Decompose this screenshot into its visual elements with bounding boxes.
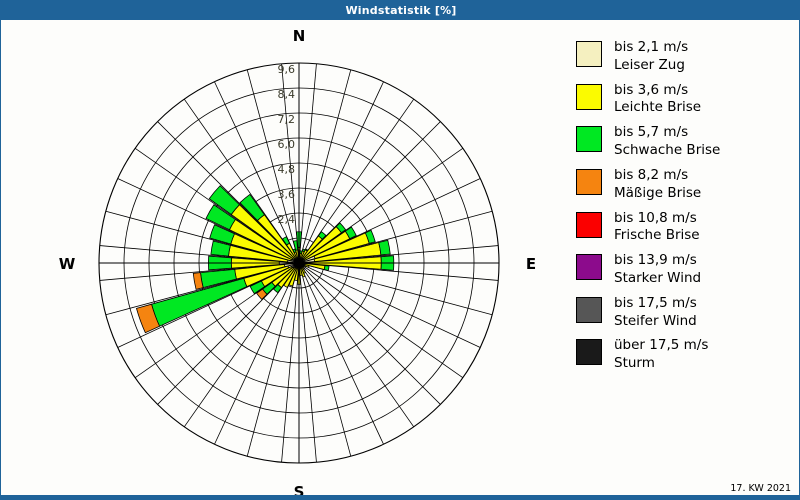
compass-label-w: W <box>59 255 76 273</box>
petal-layer <box>136 186 393 333</box>
legend-name-label: Steifer Wind <box>614 313 697 331</box>
legend-color-swatch <box>576 297 602 323</box>
legend-color-swatch <box>576 126 602 152</box>
legend-name-label: Mäßige Brise <box>614 185 701 203</box>
petal-segment <box>324 266 329 271</box>
legend-name-label: Leiser Zug <box>614 57 688 75</box>
legend-label-group: bis 13,9 m/sStarker Wind <box>614 252 701 288</box>
legend-speed-label: bis 5,7 m/s <box>614 124 720 142</box>
legend-color-swatch <box>576 84 602 110</box>
legend-item: über 17,5 m/sSturm <box>576 337 798 373</box>
window-title-bar: Windstatistik [%] <box>1 1 800 20</box>
legend-speed-label: bis 10,8 m/s <box>614 210 700 228</box>
legend-label-group: bis 3,6 m/sLeichte Brise <box>614 82 701 118</box>
footer-week-label: 17. KW 2021 <box>730 483 791 494</box>
legend-item: bis 2,1 m/sLeiser Zug <box>576 39 798 75</box>
legend-label-group: bis 8,2 m/sMäßige Brise <box>614 167 701 203</box>
radial-tick-label: 7,2 <box>278 113 296 126</box>
legend-item: bis 17,5 m/sSteifer Wind <box>576 295 798 331</box>
legend-color-swatch <box>576 41 602 67</box>
legend: bis 2,1 m/sLeiser Zugbis 3,6 m/sLeichte … <box>576 39 798 380</box>
window-title: Windstatistik [%] <box>345 4 456 17</box>
legend-speed-label: bis 2,1 m/s <box>614 39 688 57</box>
legend-label-group: bis 17,5 m/sSteifer Wind <box>614 295 697 331</box>
legend-color-swatch <box>576 339 602 365</box>
grid-spoke <box>299 263 414 427</box>
legend-color-swatch <box>576 169 602 195</box>
window-bottom-bar <box>1 495 800 499</box>
wind-rose-svg: 2,43,64,86,07,28,49,6NESW <box>1 20 566 499</box>
legend-speed-label: bis 17,5 m/s <box>614 295 697 313</box>
radial-tick-label: 6,0 <box>278 138 296 151</box>
legend-item: bis 8,2 m/sMäßige Brise <box>576 167 798 203</box>
radial-tick-label: 2,4 <box>278 213 296 226</box>
legend-speed-label: über 17,5 m/s <box>614 337 708 355</box>
legend-name-label: Leichte Brise <box>614 99 701 117</box>
legend-item: bis 5,7 m/sSchwache Brise <box>576 124 798 160</box>
legend-label-group: bis 2,1 m/sLeiser Zug <box>614 39 688 75</box>
compass-label-e: E <box>526 255 536 273</box>
legend-color-swatch <box>576 254 602 280</box>
legend-item: bis 10,8 m/sFrische Brise <box>576 210 798 246</box>
legend-name-label: Frische Brise <box>614 227 700 245</box>
legend-label-group: bis 5,7 m/sSchwache Brise <box>614 124 720 160</box>
grid-spoke <box>299 263 440 404</box>
wind-rose-plot: 2,43,64,86,07,28,49,6NESW <box>1 20 566 499</box>
petal-segment <box>379 240 391 255</box>
legend-name-label: Sturm <box>614 355 708 373</box>
legend-color-swatch <box>576 212 602 238</box>
legend-speed-label: bis 13,9 m/s <box>614 252 701 270</box>
legend-speed-label: bis 8,2 m/s <box>614 167 701 185</box>
legend-speed-label: bis 3,6 m/s <box>614 82 701 100</box>
grid-spoke <box>299 263 463 378</box>
legend-item: bis 13,9 m/sStarker Wind <box>576 252 798 288</box>
radial-tick-label: 4,8 <box>278 163 296 176</box>
wind-statistics-window: Windstatistik [%] 2,43,64,86,07,28,49,6N… <box>0 0 800 500</box>
legend-label-group: über 17,5 m/sSturm <box>614 337 708 373</box>
radial-tick-label: 3,6 <box>278 188 296 201</box>
radial-tick-label: 9,6 <box>278 63 296 76</box>
legend-item: bis 3,6 m/sLeichte Brise <box>576 82 798 118</box>
legend-name-label: Starker Wind <box>614 270 701 288</box>
compass-label-n: N <box>293 27 306 45</box>
grid-spoke <box>299 263 351 456</box>
radial-tick-label: 8,4 <box>278 88 296 101</box>
legend-name-label: Schwache Brise <box>614 142 720 160</box>
legend-label-group: bis 10,8 m/sFrische Brise <box>614 210 700 246</box>
